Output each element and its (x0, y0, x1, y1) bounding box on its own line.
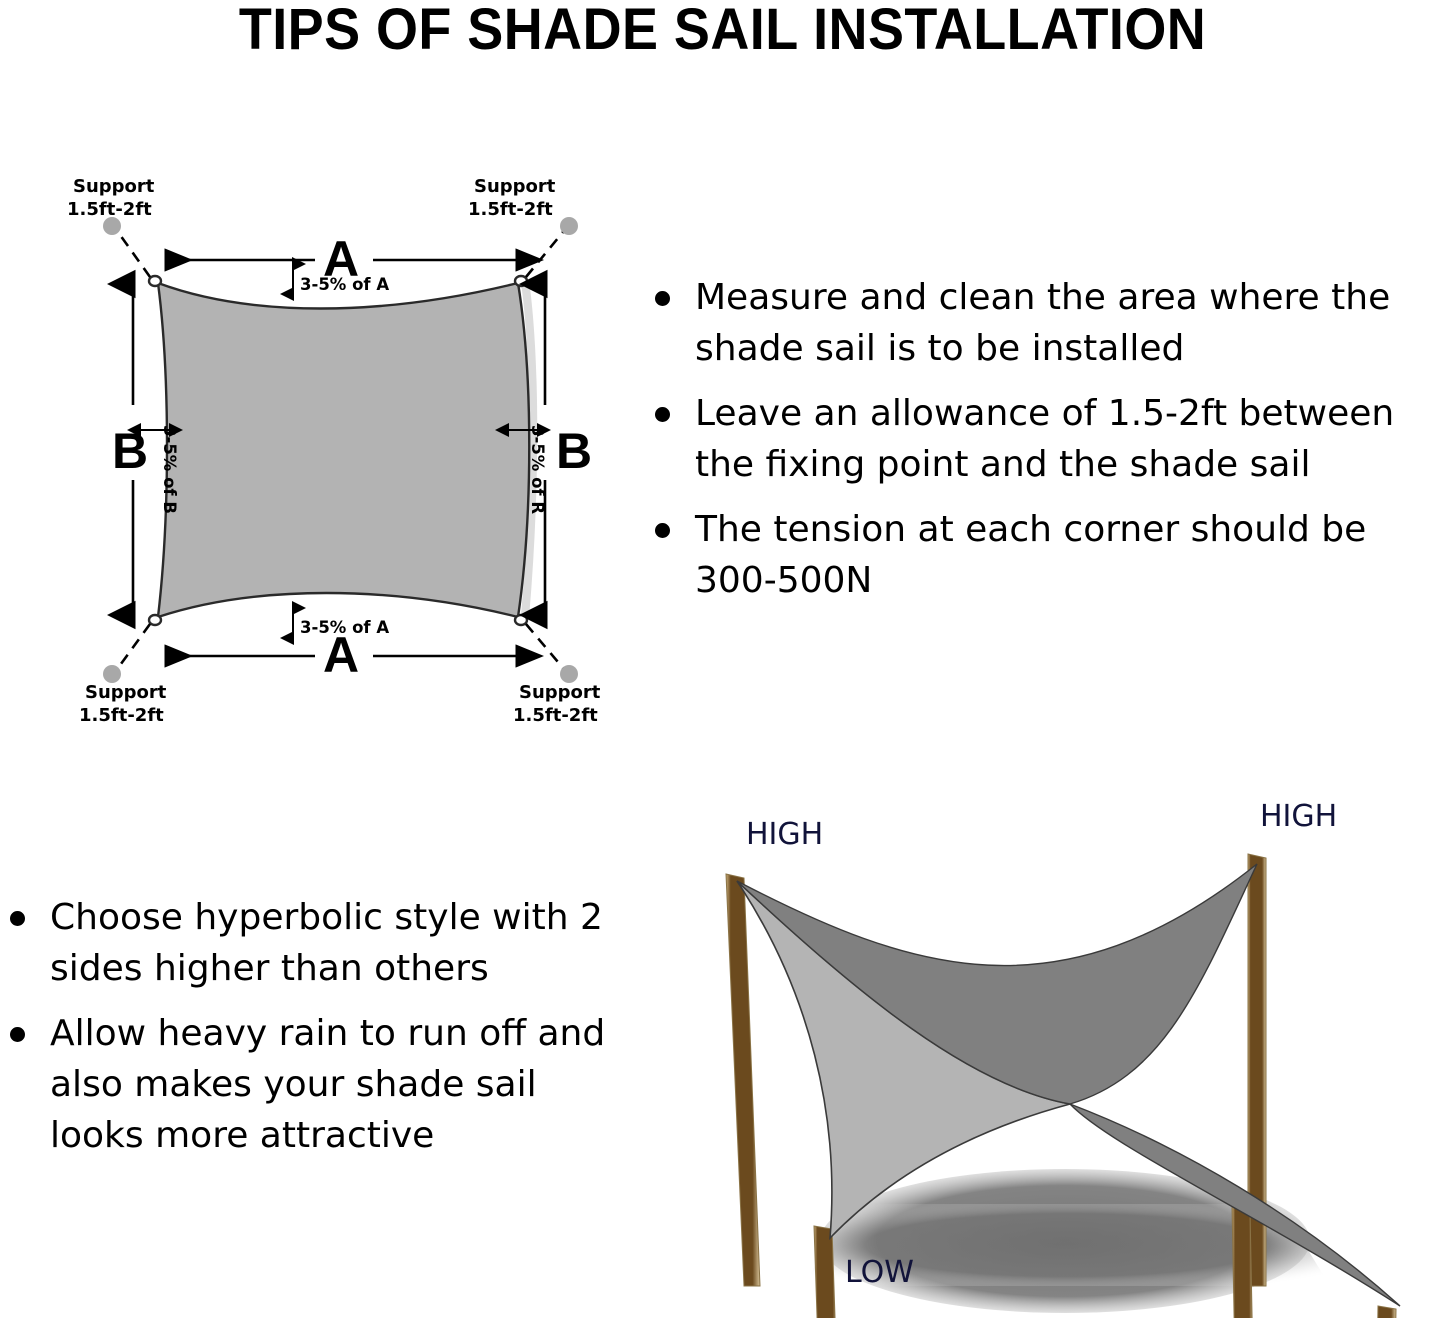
support-label-line1: Support (474, 176, 556, 197)
hyperbolic-sail-illustration: HIGH HIGH LOW LOW (640, 786, 1445, 1318)
tolerance-a-bottom: 3-5% of A (293, 608, 389, 638)
support-label-bottom-right: Support 1.5ft-2ft (513, 682, 601, 726)
bullet-dot-icon (655, 407, 670, 422)
support-label-line2: 1.5ft-2ft (79, 705, 164, 726)
sail-body (158, 283, 529, 617)
support-label-bottom-left: Support 1.5ft-2ft (79, 682, 167, 726)
label-high-left: HIGH (746, 817, 823, 852)
tip-text: Choose hyperbolic style with 2 sides hig… (50, 897, 603, 989)
support-label-line2: 1.5ft-2ft (67, 199, 152, 220)
tolerance-b-right-label: 3-5% of R (528, 425, 547, 514)
tip-item: Allow heavy rain to run off and also mak… (0, 1008, 620, 1161)
tip-item: The tension at each corner should be 300… (645, 504, 1445, 606)
bullet-dot-icon (10, 911, 25, 926)
page-title: TIPS OF SHADE SAIL INSTALLATION (51, 0, 1395, 62)
tip-text: The tension at each corner should be 300… (695, 509, 1366, 601)
tolerance-a-bottom-label: 3-5% of A (300, 618, 389, 637)
post-mid-right (1232, 1206, 1254, 1318)
tolerance-b-left-label: 3-5% of B (160, 425, 179, 514)
post-high-left (726, 874, 760, 1286)
bullet-dot-icon (655, 523, 670, 538)
square-sail-diagram: Support 1.5ft-2ft Support 1.5ft-2ft Supp… (40, 160, 650, 740)
bullet-dot-icon (655, 291, 670, 306)
tip-item: Choose hyperbolic style with 2 sides hig… (0, 892, 620, 994)
tip-item: Measure and clean the area where the sha… (645, 272, 1445, 374)
support-label-line2: 1.5ft-2ft (513, 705, 598, 726)
support-label-top-right: Support 1.5ft-2ft (468, 176, 556, 220)
support-label-line1: Support (519, 682, 601, 703)
tip-text: Leave an allowance of 1.5-2ft between th… (695, 393, 1394, 485)
post-low-right (1374, 1306, 1396, 1318)
support-label-line2: 1.5ft-2ft (468, 199, 553, 220)
support-label-line1: Support (73, 176, 155, 197)
tips-list-right: Measure and clean the area where the sha… (645, 272, 1445, 620)
tip-text: Measure and clean the area where the sha… (695, 277, 1390, 369)
dimension-b-left-label: B (112, 423, 148, 479)
dimension-b-right-label: B (556, 423, 592, 479)
bullet-dot-icon (10, 1027, 25, 1042)
tip-item: Leave an allowance of 1.5-2ft between th… (645, 388, 1445, 490)
tolerance-a-top-label: 3-5% of A (300, 275, 389, 294)
label-low-left: LOW (845, 1255, 914, 1290)
support-label-line1: Support (85, 682, 167, 703)
support-label-top-left: Support 1.5ft-2ft (67, 176, 155, 220)
label-high-right: HIGH (1260, 799, 1337, 834)
tip-text: Allow heavy rain to run off and also mak… (50, 1013, 605, 1156)
tips-list-left: Choose hyperbolic style with 2 sides hig… (0, 892, 620, 1175)
